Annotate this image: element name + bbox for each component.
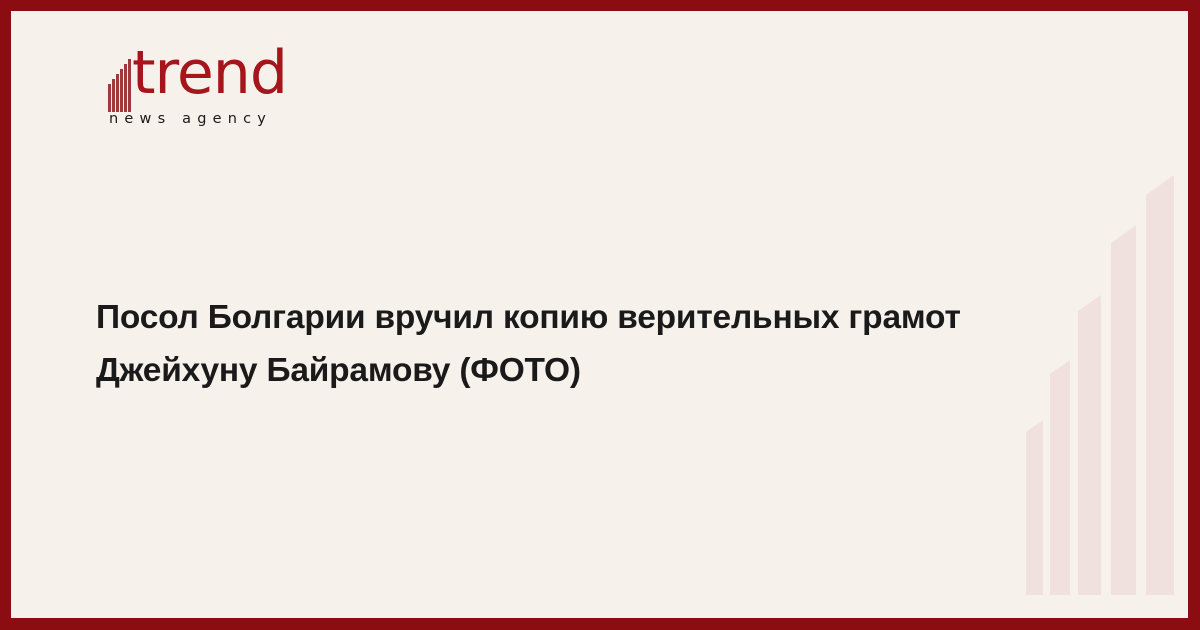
logo-bar	[112, 79, 115, 112]
logo-bar	[116, 74, 119, 112]
logo-bar	[108, 84, 111, 112]
watermark-bar	[1146, 175, 1174, 595]
card-canvas: trend news agency Посол Болгарии вручил …	[11, 11, 1188, 618]
logo-bar	[128, 59, 131, 112]
brand-logo[interactable]: trend news agency	[96, 49, 356, 141]
logo-wordmark: trend	[132, 43, 287, 103]
logo-bar	[124, 64, 127, 112]
social-card: trend news agency Посол Болгарии вручил …	[0, 0, 1200, 630]
logo-bar	[120, 69, 123, 112]
headline-title: Посол Болгарии вручил копию верительных …	[96, 291, 1106, 397]
watermark-bar	[1026, 420, 1043, 595]
watermark-bar	[1111, 225, 1136, 595]
logo-tagline: news agency	[109, 112, 272, 127]
